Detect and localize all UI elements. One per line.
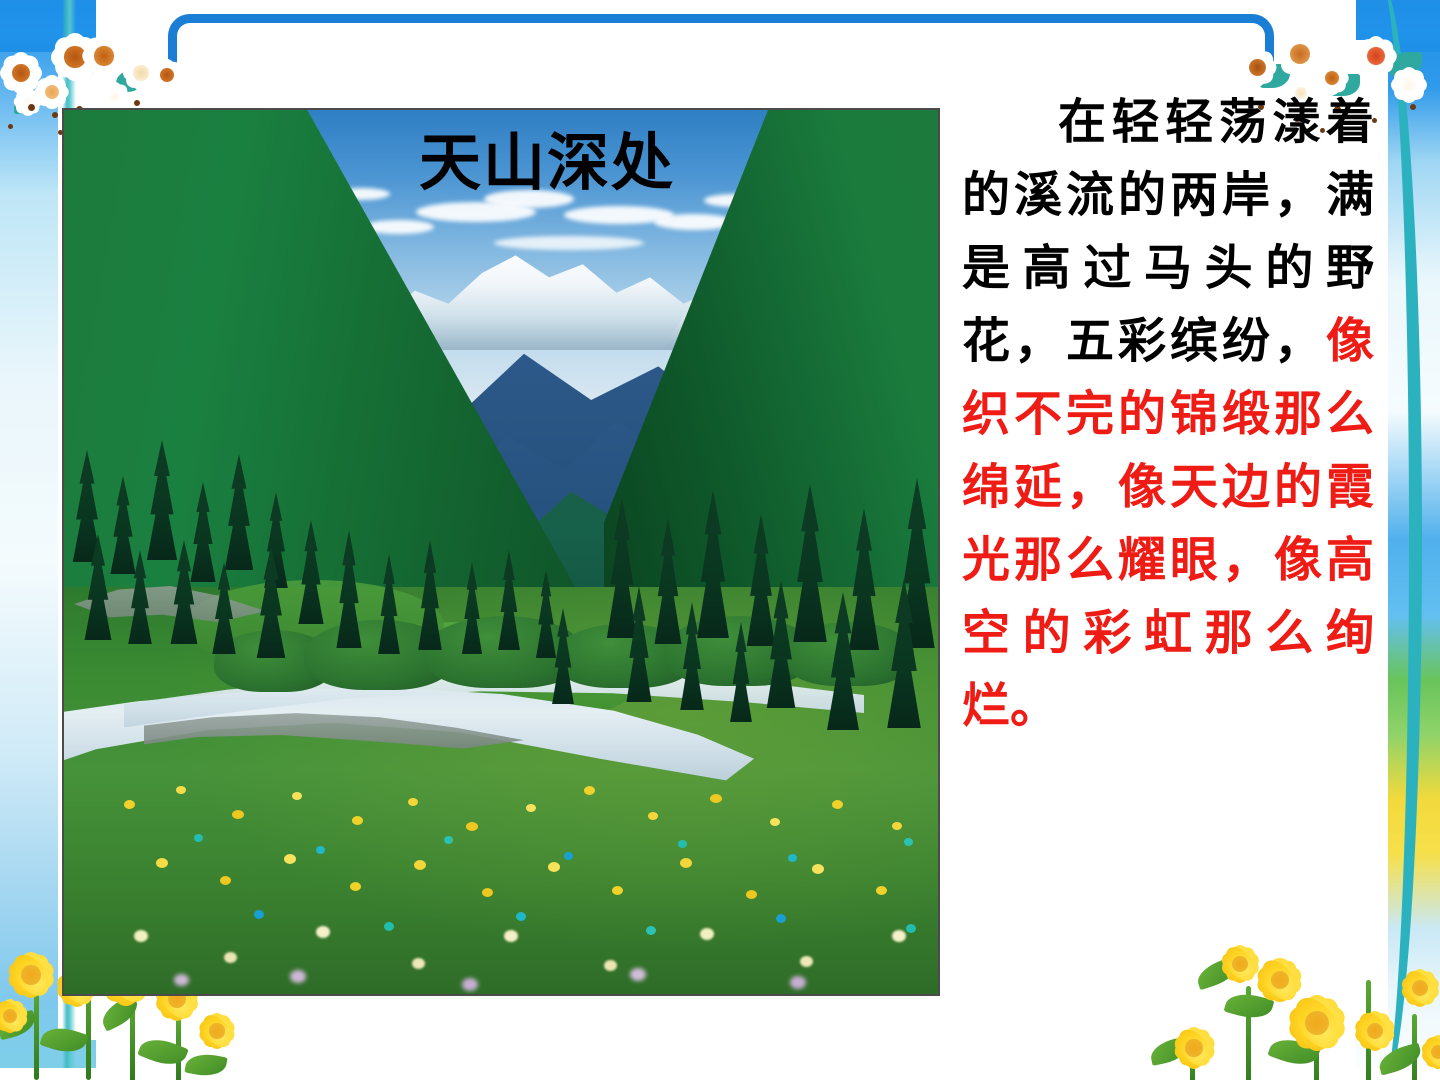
- body-text-black: 在轻轻荡漾着的溪流的两岸，满是高过马头的野花，五彩缤纷，: [962, 94, 1374, 369]
- body-text-red: 像织不完的锦缎那么绵延，像天边的霞光那么耀眼，像高空的彩虹那么绚烂。: [962, 313, 1374, 734]
- slide-canvas: 天山深处 在轻轻荡漾着的溪流的两岸，满是高过马头的野花，五彩缤纷，像织不完的锦缎…: [0, 0, 1440, 1080]
- body-paragraph: 在轻轻荡漾着的溪流的两岸，满是高过马头的野花，五彩缤纷，像织不完的锦缎那么绵延，…: [962, 86, 1374, 743]
- bottom-background-band: [0, 1068, 1440, 1080]
- photo-title: 天山深处: [419, 132, 675, 194]
- landscape-photo[interactable]: 天山深处: [62, 108, 940, 996]
- page-top-frame: [168, 14, 1274, 74]
